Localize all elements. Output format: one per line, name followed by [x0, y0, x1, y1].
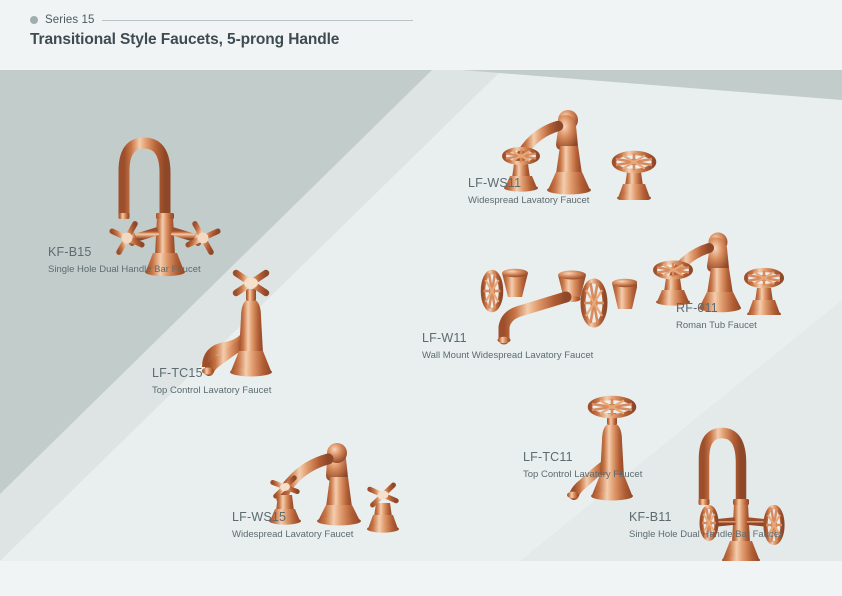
product-description: Widespread Lavatory Faucet — [232, 529, 353, 540]
product-label-lf-w11: LF-W11 Wall Mount Widespread Lavatory Fa… — [422, 331, 593, 361]
series-15-rule — [102, 20, 413, 21]
catalog-page: Series 15 Transitional Style Faucets, 5-… — [0, 0, 842, 596]
product-description: Single Hole Dual Handle Bar Faucet — [629, 529, 782, 540]
series-15-label: Series 15 — [45, 14, 94, 26]
product-sku: LF-W11 — [422, 331, 593, 345]
series-15-title: Transitional Style Faucets, 5-prong Hand… — [30, 31, 339, 49]
product-description: Roman Tub Faucet — [676, 320, 757, 331]
product-sku: KF-B11 — [629, 510, 782, 524]
product-label-lf-ws11: LF-WS11 Widespread Lavatory Faucet — [468, 176, 589, 206]
product-label-kf-b15: KF-B15 Single Hole Dual Handle Bar Fauce… — [48, 245, 201, 275]
product-sku: LF-TC15 — [152, 366, 271, 380]
product-label-lf-tc11: LF-TC11 Top Control Lavatory Faucet — [523, 450, 642, 480]
header-column-series-11: Series 11 Transitional Style Faucets, Wh… — [421, 0, 842, 70]
product-sku: KF-B15 — [48, 245, 201, 259]
product-sku: RF-011 — [676, 301, 757, 315]
product-description: Top Control Lavatory Faucet — [523, 469, 642, 480]
header-column-series-15: Series 15 Transitional Style Faucets, 5-… — [0, 0, 421, 70]
series-15-row: Series 15 — [30, 14, 413, 26]
product-label-lf-tc15: LF-TC15 Top Control Lavatory Faucet — [152, 366, 271, 396]
product-description: Wall Mount Widespread Lavatory Faucet — [422, 350, 593, 361]
product-stage: KF-B15 Single Hole Dual Handle Bar Fauce… — [0, 70, 842, 561]
product-label-rf-011: RF-011 Roman Tub Faucet — [676, 301, 757, 331]
product-sku: LF-TC11 — [523, 450, 642, 464]
product-sku: LF-WS15 — [232, 510, 353, 524]
product-description: Single Hole Dual Handle Bar Faucet — [48, 264, 201, 275]
product-label-lf-ws15: LF-WS15 Widespread Lavatory Faucet — [232, 510, 353, 540]
page-header: Series 15 Transitional Style Faucets, 5-… — [0, 0, 842, 70]
product-sku: LF-WS11 — [468, 176, 589, 190]
page-footer-strip — [0, 561, 842, 596]
bullet-dot-icon — [30, 16, 38, 24]
product-image-lf-tc11 — [550, 375, 660, 510]
product-description: Top Control Lavatory Faucet — [152, 385, 271, 396]
product-label-kf-b11: KF-B11 Single Hole Dual Handle Bar Fauce… — [629, 510, 782, 540]
product-description: Widespread Lavatory Faucet — [468, 195, 589, 206]
